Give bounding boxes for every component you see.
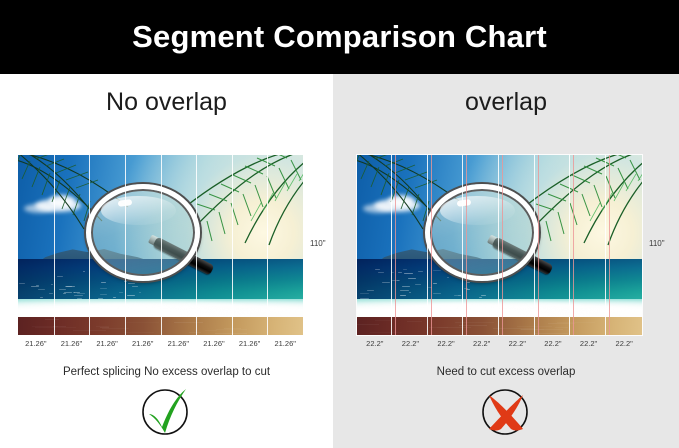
width-label: 21.26" [232, 339, 268, 348]
width-label: 21.26" [125, 339, 161, 348]
width-label: 21.26" [161, 339, 197, 348]
mural-image-overlap [357, 155, 642, 335]
width-label: 22.2" [606, 339, 642, 348]
width-labels-overlap: 22.2" 22.2" 22.2" 22.2" 22.2" 22.2" 22.2… [357, 339, 642, 348]
comparison-panels: No overlap [0, 74, 679, 448]
mural-container-overlap: 110" [357, 155, 642, 335]
width-label: 21.26" [196, 339, 232, 348]
check-icon [139, 386, 195, 438]
verdict-overlap [333, 386, 679, 438]
segment-seams-overlap [357, 155, 642, 335]
width-label: 22.2" [464, 339, 500, 348]
width-label: 22.2" [357, 339, 393, 348]
width-label: 21.26" [54, 339, 90, 348]
caption-overlap: Need to cut excess overlap [333, 366, 679, 378]
segment-seams-no-overlap [18, 155, 303, 335]
height-label-overlap: 110" [649, 239, 665, 248]
mural-image-no-overlap [18, 155, 303, 335]
width-label: 22.2" [428, 339, 464, 348]
height-label-no-overlap: 110" [310, 239, 326, 248]
width-label: 22.2" [393, 339, 429, 348]
panel-heading-overlap: overlap [333, 88, 679, 117]
cross-icon [478, 386, 534, 438]
width-labels-no-overlap: 21.26" 21.26" 21.26" 21.26" 21.26" 21.26… [18, 339, 303, 348]
width-label: 22.2" [500, 339, 536, 348]
width-label: 21.26" [89, 339, 125, 348]
width-label: 21.26" [18, 339, 54, 348]
panel-no-overlap: No overlap [0, 74, 333, 448]
verdict-no-overlap [0, 386, 333, 438]
page-root: Segment Comparison Chart No overlap [0, 0, 679, 448]
width-label: 21.26" [267, 339, 303, 348]
page-title: Segment Comparison Chart [132, 19, 547, 55]
width-label: 22.2" [571, 339, 607, 348]
width-label: 22.2" [535, 339, 571, 348]
panel-heading-no-overlap: No overlap [0, 88, 333, 117]
caption-no-overlap: Perfect splicing No excess overlap to cu… [0, 366, 333, 378]
mural-container-no-overlap: 110" [18, 155, 303, 335]
header-bar: Segment Comparison Chart [0, 0, 679, 74]
panel-overlap: overlap [333, 74, 679, 448]
